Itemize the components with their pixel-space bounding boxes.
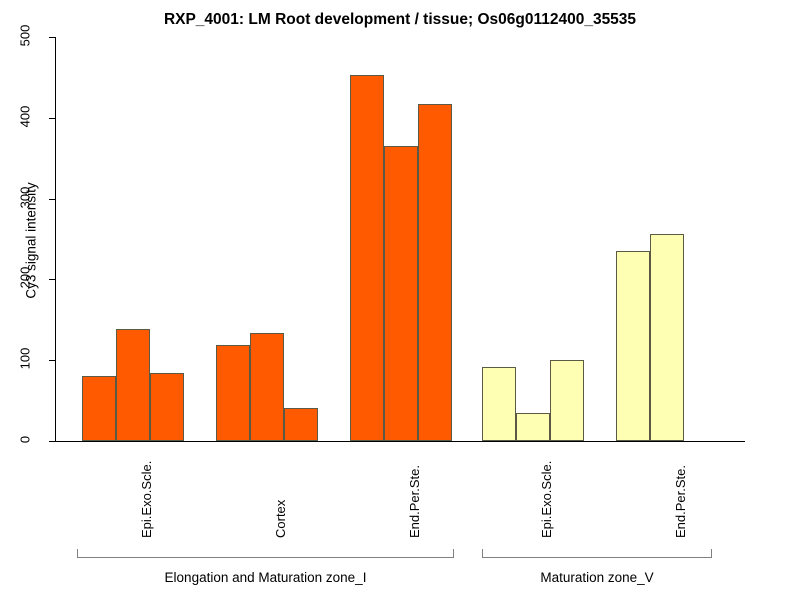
bar [616,251,650,441]
group-label: Elongation and Maturation zone_I [77,570,454,585]
bar [116,329,150,441]
y-tick-300 [49,199,55,200]
x-tick-label: End.Per.Ste. [407,465,422,538]
y-tick-500 [49,37,55,38]
x-tick-label: End.Per.Ste. [673,465,688,538]
bar [150,373,184,441]
x-tick-label: Epi.Exo.Scle. [539,461,554,538]
bar [216,345,250,441]
bar [82,376,116,441]
y-tick-400 [49,118,55,119]
bar [650,234,684,441]
bar [550,360,584,441]
group-bracket [482,549,712,558]
y-axis-title: Cy3 signal intensity [24,141,39,341]
y-tick-label-100: 100 [18,342,33,376]
group-bracket [77,549,454,558]
bar [250,333,284,441]
group-label: Maturation zone_V [482,570,712,585]
x-axis-line [55,441,745,442]
bar [384,146,418,441]
y-tick-200 [49,279,55,280]
chart-title: RXP_4001: LM Root development / tissue; … [0,11,800,29]
y-tick-label-400: 400 [18,99,33,133]
y-axis-line [55,37,56,441]
bar [284,408,318,441]
y-tick-100 [49,360,55,361]
bar [350,75,384,441]
x-tick-label: Cortex [273,500,288,538]
bar [482,367,516,441]
x-tick-label: Epi.Exo.Scle. [139,461,154,538]
bar [516,413,550,441]
y-tick-label-500: 500 [18,19,33,53]
y-tick-label-0: 0 [18,423,33,457]
bar-chart: RXP_4001: LM Root development / tissue; … [0,0,800,600]
bar [418,104,452,441]
